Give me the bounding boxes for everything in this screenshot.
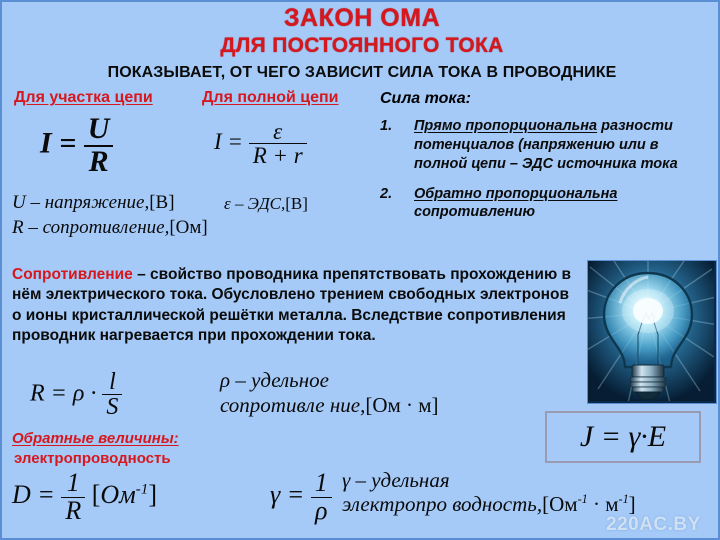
formula-conductance: D = 1 R [Ом-1] xyxy=(12,470,157,524)
definition-unit: [Ом · м] xyxy=(365,393,438,417)
definition-line-2-text: электропро водность, xyxy=(342,492,542,516)
list-item-emphasis: Прямо пропорциональна xyxy=(414,118,597,134)
formula-equals: = xyxy=(601,420,621,454)
fraction-numerator: 1 xyxy=(311,470,332,497)
resistance-keyword: Сопротивление xyxy=(12,266,133,283)
formula-lhs: D xyxy=(12,480,31,509)
fraction-emf-over-r-plus-r: ε R + r xyxy=(249,120,307,168)
formula-dot: · xyxy=(640,420,648,454)
resistance-definition-paragraph: Сопротивление – свойство проводника преп… xyxy=(12,265,572,347)
unit-exponent-ohm: -1 xyxy=(578,492,588,506)
formula-dot: · xyxy=(90,380,96,406)
definition-emf: ε – ЭДС,[В] xyxy=(224,194,308,214)
definition-unit: [В] xyxy=(149,192,174,213)
list-item-text: Обратно пропорциональна сопротивлению xyxy=(414,185,710,223)
formula-resistivity: R = ρ · l S xyxy=(30,370,122,420)
fraction-denominator: ρ xyxy=(311,497,332,525)
light-bulb-photo xyxy=(587,260,717,404)
formula-equals: = xyxy=(51,380,67,406)
formula-lhs: I xyxy=(40,126,52,159)
fraction-one-over-r: 1 R xyxy=(61,470,85,524)
definition-unit: [Ом] xyxy=(169,217,207,238)
formula-lhs: γ xyxy=(270,480,280,509)
formula-current-density-box: J = γ·E xyxy=(545,411,701,463)
formula-unit-bracket: [Ом-1] xyxy=(92,480,157,509)
definition-resistance: R – сопротивление,[Ом] xyxy=(12,217,208,239)
formula-gamma: γ xyxy=(628,420,640,454)
fraction-denominator: R + r xyxy=(249,143,307,167)
fraction-denominator: S xyxy=(102,394,122,419)
formula-lhs: R xyxy=(30,380,45,406)
subheading-conductance: электропроводность xyxy=(14,450,171,467)
fraction-l-over-s: l S xyxy=(102,370,122,420)
definition-unit: [Ом-1 · м-1] xyxy=(542,492,636,516)
definition-line-1: γ – удельная xyxy=(342,468,636,492)
definition-conductivity: γ – удельная электропро водность,[Ом-1 ·… xyxy=(342,468,636,517)
formula-equals: = xyxy=(37,480,55,509)
definition-line-2: электропро водность,[Ом-1 · м-1] xyxy=(342,492,636,516)
formula-equals: = xyxy=(227,129,243,154)
formula-unit: Ом xyxy=(100,480,135,509)
list-item-rest: сопротивлению xyxy=(414,204,535,220)
definition-text: U – напряжение, xyxy=(12,192,149,213)
fraction-denominator: R xyxy=(84,145,114,178)
light-bulb-icon xyxy=(588,261,714,401)
formula-lhs: J xyxy=(580,420,593,454)
page-caption: ПОКАЗЫВАЕТ, ОТ ЧЕГО ЗАВИСИТ СИЛА ТОКА В … xyxy=(2,64,720,82)
formula-ohm-law-part: I = U R xyxy=(40,114,113,177)
list-item: 1. Прямо пропорциональна разности потенц… xyxy=(380,117,710,174)
definition-line-1: ρ – удельное xyxy=(220,368,439,393)
heading-part-circuit: Для участка цепи xyxy=(14,89,153,107)
definition-resistivity: ρ – удельное сопротивле ние,[Ом · м] xyxy=(220,368,439,418)
heading-current: Сила тока: xyxy=(380,90,471,108)
page-title: ЗАКОН ОМА xyxy=(2,4,720,33)
ohms-law-poster: ЗАКОН ОМА ДЛЯ ПОСТОЯННОГО ТОКА ПОКАЗЫВАЕ… xyxy=(0,0,720,540)
list-item-emphasis: Обратно пропорциональна xyxy=(414,186,617,202)
definition-text: R – сопротивление, xyxy=(12,217,169,238)
definition-voltage: U – напряжение,[В] xyxy=(12,192,175,214)
fraction-u-over-r: U R xyxy=(84,114,114,177)
definition-unit: [В] xyxy=(285,194,308,213)
heading-full-circuit: Для полной цепи xyxy=(202,89,339,107)
formula-field: E xyxy=(648,420,666,454)
unit-base-metre: м xyxy=(605,492,618,516)
fraction-numerator: ε xyxy=(249,120,307,143)
fraction-denominator: R xyxy=(61,497,85,525)
list-item-number: 1. xyxy=(380,117,414,174)
watermark: 220AC.BY xyxy=(606,514,701,536)
unit-exponent-metre: -1 xyxy=(619,492,629,506)
page-subtitle: ДЛЯ ПОСТОЯННОГО ТОКА xyxy=(2,34,720,58)
formula-equals: = xyxy=(287,480,305,509)
definition-line-2: сопротивле ние,[Ом · м] xyxy=(220,393,439,418)
current-properties-list: 1. Прямо пропорциональна разности потенц… xyxy=(380,117,710,233)
formula-rho: ρ xyxy=(73,380,85,406)
list-item-number: 2. xyxy=(380,185,414,223)
unit-base-ohm: Ом xyxy=(549,492,577,516)
list-item-text: Прямо пропорциональна разности потенциал… xyxy=(414,117,710,174)
formula-conductivity: γ = 1 ρ xyxy=(270,470,332,524)
definition-line-2-text: сопротивле ние, xyxy=(220,393,365,417)
formula-unit-exponent: -1 xyxy=(136,481,149,497)
formula-ohm-law-full: I = ε R + r xyxy=(214,120,307,168)
formula-equals: = xyxy=(59,126,76,159)
fraction-numerator: U xyxy=(84,114,114,145)
formula-lhs: I xyxy=(214,129,222,154)
fraction-one-over-rho: 1 ρ xyxy=(311,470,332,524)
definition-text: ε – ЭДС, xyxy=(224,194,285,213)
unit-dot: · xyxy=(593,492,600,516)
heading-inverse-quantities: Обратные величины: xyxy=(12,430,179,447)
list-item: 2. Обратно пропорциональна сопротивлению xyxy=(380,185,710,223)
fraction-numerator: 1 xyxy=(61,470,85,497)
fraction-numerator: l xyxy=(102,370,122,394)
